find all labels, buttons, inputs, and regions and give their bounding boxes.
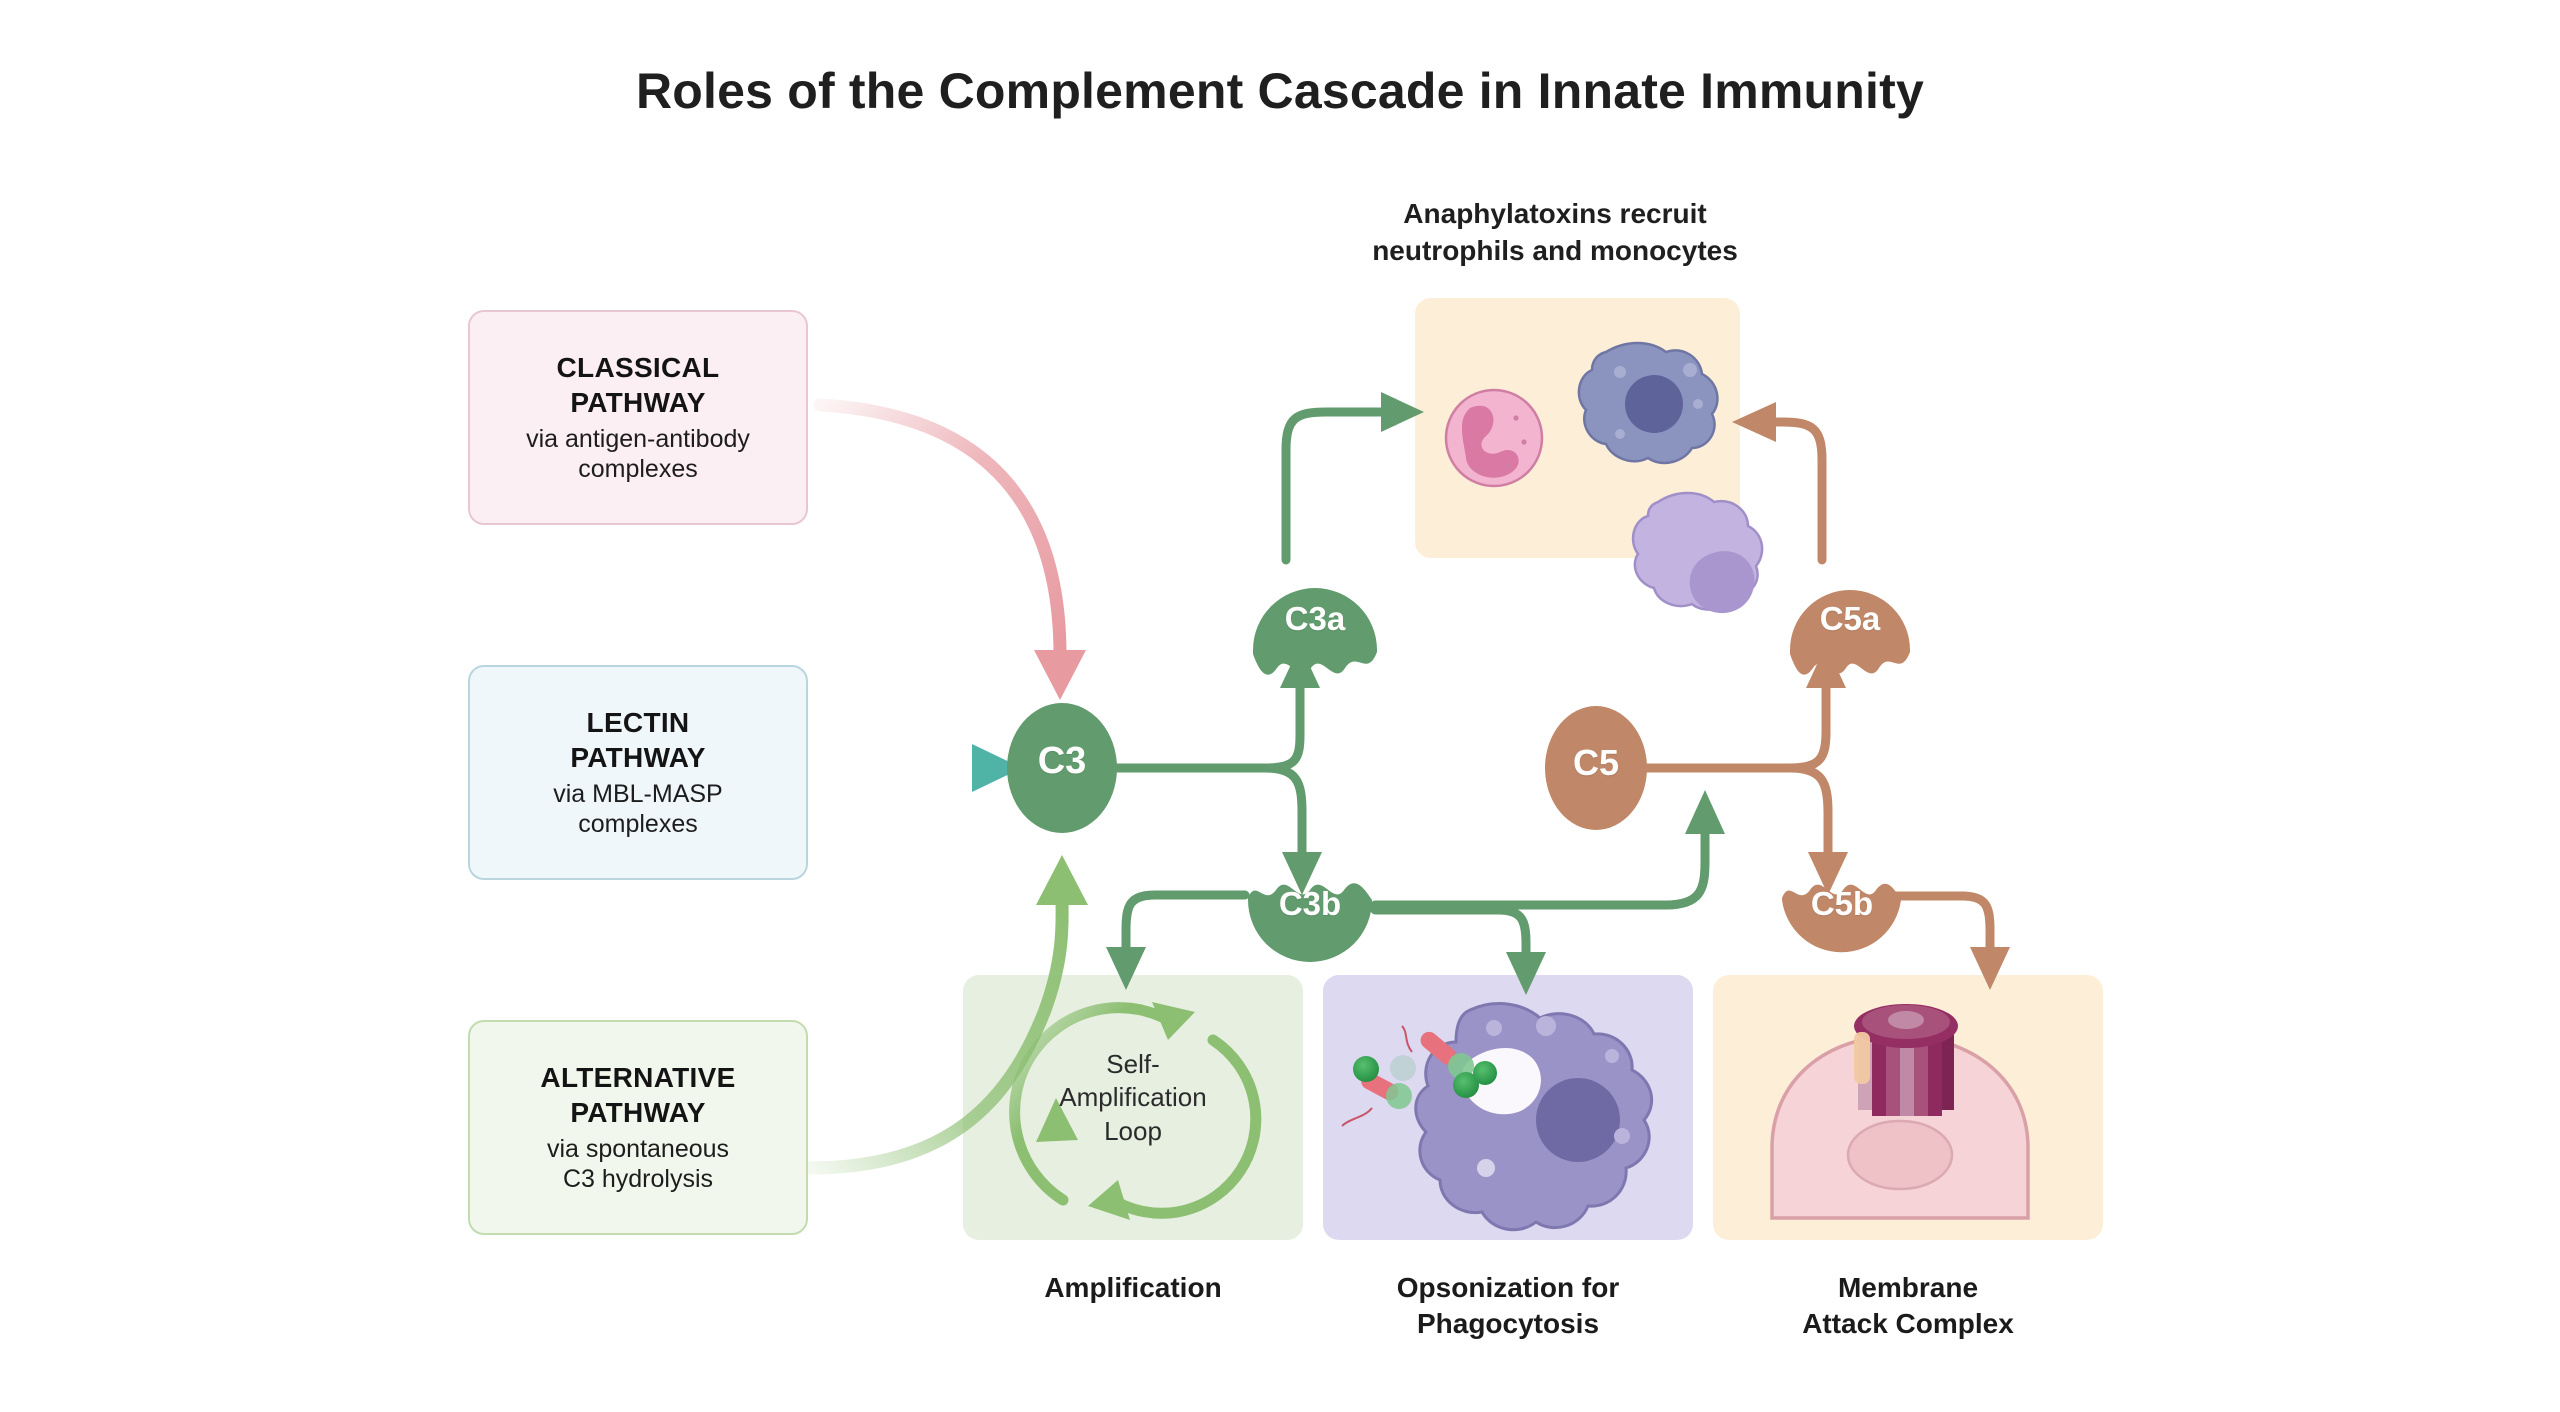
arrow-classical-to-c3 [820,405,1060,655]
line-c3b-to-opsonization [1375,910,1526,958]
node-c5[interactable] [1545,706,1647,830]
pathway-classical-sub2: complexes [578,454,698,484]
line-c3-split [1105,680,1300,768]
node-c3b[interactable] [1248,883,1372,962]
node-c3a[interactable] [1253,588,1377,675]
line-c3-to-c3b [1265,768,1302,855]
pathway-classical-line2: PATHWAY [570,386,705,420]
caption-opsonization-line2: Phagocytosis [1323,1306,1693,1342]
caption-opsonization-line1: Opsonization for [1323,1270,1693,1306]
pathway-alternative-sub1: via spontaneous [547,1134,729,1164]
caption-opsonization: Opsonization for Phagocytosis [1323,1270,1693,1343]
line-c3b-to-c5 [1375,830,1705,905]
pathway-lectin-line1: LECTIN [587,706,690,740]
pathway-box-classical[interactable]: CLASSICAL PATHWAY via antigen-antibody c… [468,310,808,525]
diagram-canvas: Roles of the Complement Cascade in Innat… [0,0,2560,1412]
loop-text-line1: Self- [1043,1048,1223,1081]
diagram-svg [0,0,2560,1412]
line-c5-split [1640,680,1826,768]
pathway-alternative-line1: ALTERNATIVE [540,1061,735,1095]
pathway-box-lectin[interactable]: LECTIN PATHWAY via MBL-MASP complexes [468,665,808,880]
line-c3a-to-cells [1286,412,1388,560]
anaphylatoxin-note-line1: Anaphylatoxins recruit [1305,195,1805,232]
arrowhead-c3b-to-c5 [1685,790,1725,834]
loop-text-line2: Amplification [1043,1081,1223,1114]
pathway-classical-line1: CLASSICAL [557,351,720,385]
caption-amplification-line1: Amplification [963,1270,1303,1306]
caption-amplification: Amplification [963,1270,1303,1306]
line-c3b-to-amplification [1126,895,1245,952]
pathway-alternative-sub2: C3 hydrolysis [563,1164,713,1194]
caption-mac-line1: Membrane [1713,1270,2103,1306]
line-c5a-to-cells [1768,422,1822,560]
caption-mac: Membrane Attack Complex [1713,1270,2103,1343]
line-c5-to-c5b [1790,768,1828,855]
arrowhead-alternative [1036,855,1088,905]
node-c3[interactable] [1007,703,1117,833]
loop-text-line3: Loop [1043,1115,1223,1148]
amplification-loop-text: Self- Amplification Loop [1043,1048,1223,1148]
node-c5a[interactable] [1790,590,1910,675]
anaphylatoxin-note: Anaphylatoxins recruit neutrophils and m… [1305,195,1805,269]
pathway-lectin-sub1: via MBL-MASP [553,779,722,809]
arrowhead-classical [1034,650,1086,700]
pathway-classical-sub1: via antigen-antibody [526,424,750,454]
pathway-alternative-line2: PATHWAY [570,1096,705,1130]
anaphylatoxin-note-line2: neutrophils and monocytes [1305,232,1805,269]
node-c5b[interactable] [1782,884,1901,953]
pathway-box-alternative[interactable]: ALTERNATIVE PATHWAY via spontaneous C3 h… [468,1020,808,1235]
pathway-lectin-line2: PATHWAY [570,741,705,775]
caption-mac-line2: Attack Complex [1713,1306,2103,1342]
pathway-lectin-sub2: complexes [578,809,698,839]
